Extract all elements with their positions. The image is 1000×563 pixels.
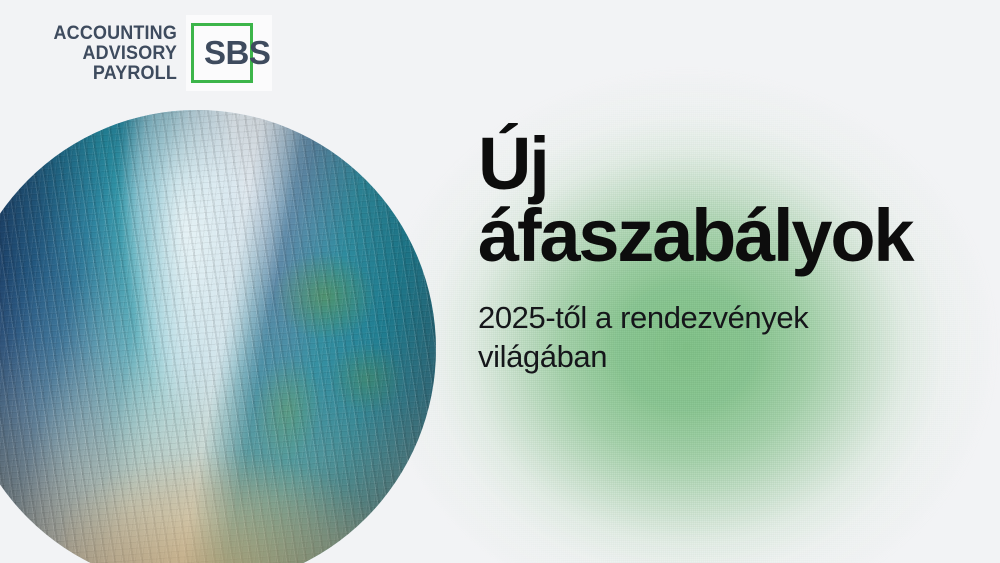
headline-line-1: Új <box>478 128 958 200</box>
skyscrapers-circular-photo <box>0 110 436 563</box>
headline-line-2: áfaszabályok <box>478 200 958 272</box>
subhead-line-1: 2025-től a rendezvények <box>478 298 958 338</box>
logo-word-payroll: PAYROLL <box>93 63 177 83</box>
brand-logo[interactable]: ACCOUNTING ADVISORY PAYROLL SBS <box>42 18 272 88</box>
subhead-line-2: világában <box>478 337 958 377</box>
logo-sbs-mark: SBS <box>186 15 272 91</box>
logo-word-advisory: ADVISORY <box>82 43 177 63</box>
page-title: Új áfaszabályok <box>478 128 958 272</box>
logo-sbs-text: SBS <box>204 34 270 72</box>
logo-wordmark: ACCOUNTING ADVISORY PAYROLL <box>54 23 187 84</box>
banner-canvas: ACCOUNTING ADVISORY PAYROLL SBS Új áfasz… <box>0 0 1000 563</box>
page-subtitle: 2025-től a rendezvények világában <box>478 298 958 377</box>
headline-block: Új áfaszabályok 2025-től a rendezvények … <box>478 128 958 377</box>
logo-word-accounting: ACCOUNTING <box>54 23 177 43</box>
